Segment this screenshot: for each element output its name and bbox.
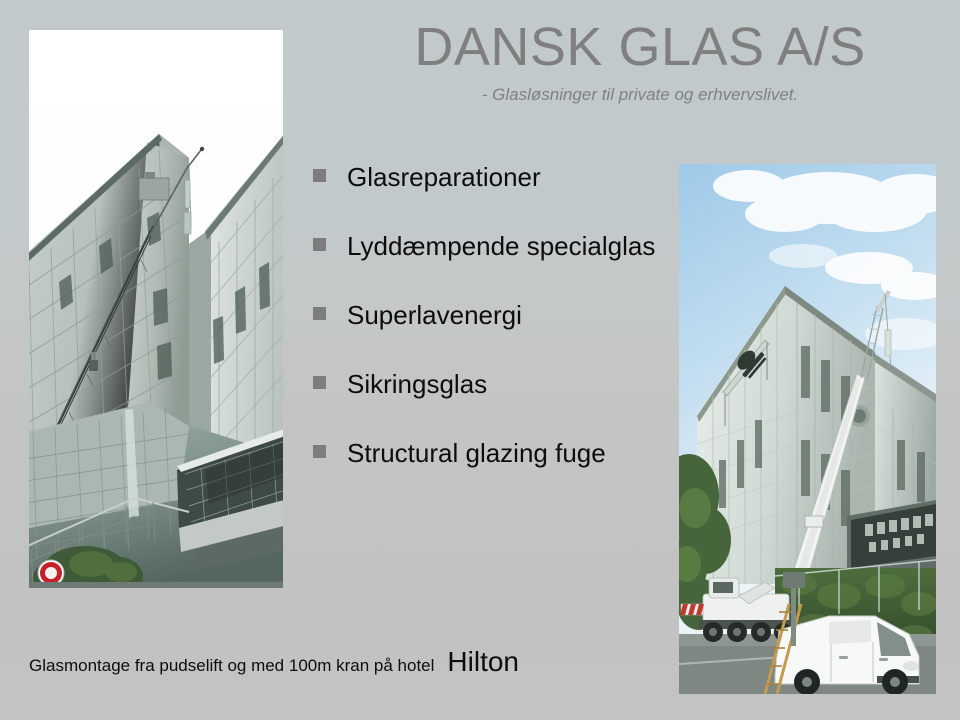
list-item: Superlavenergi (313, 298, 685, 333)
caption-highlight: Hilton (447, 646, 519, 678)
page-title: DANSK GLAS A/S (340, 16, 940, 78)
photo-caption: Glasmontage fra pudselift og med 100m kr… (29, 646, 519, 678)
page-subtitle: - Glasløsninger til private og erhvervsl… (340, 84, 940, 106)
list-item: Lyddæmpende specialglas (313, 229, 685, 264)
list-item: Glasreparationer (313, 160, 685, 195)
bullet-square-icon (313, 445, 326, 458)
list-item-label: Sikringsglas (347, 367, 487, 402)
list-item: Structural glazing fuge (313, 436, 685, 471)
caption-text: Glasmontage fra pudselift og med 100m kr… (29, 656, 434, 676)
list-item-label: Structural glazing fuge (347, 436, 606, 471)
glass-facade-with-crane-photo (29, 30, 283, 588)
list-item: Sikringsglas (313, 367, 685, 402)
title-block: DANSK GLAS A/S - Glasløsninger til priva… (340, 16, 940, 106)
services-bullet-list: Glasreparationer Lyddæmpende specialglas… (313, 160, 685, 505)
bullet-square-icon (313, 307, 326, 320)
list-item-label: Superlavenergi (347, 298, 522, 333)
list-item-label: Glasreparationer (347, 160, 541, 195)
list-item-label: Lyddæmpende specialglas (347, 229, 655, 264)
bullet-square-icon (313, 238, 326, 251)
bullet-square-icon (313, 376, 326, 389)
presentation-slide: DANSK GLAS A/S - Glasløsninger til priva… (0, 0, 960, 720)
hilton-hotel-crane-van-photo (679, 164, 936, 694)
bullet-square-icon (313, 169, 326, 182)
